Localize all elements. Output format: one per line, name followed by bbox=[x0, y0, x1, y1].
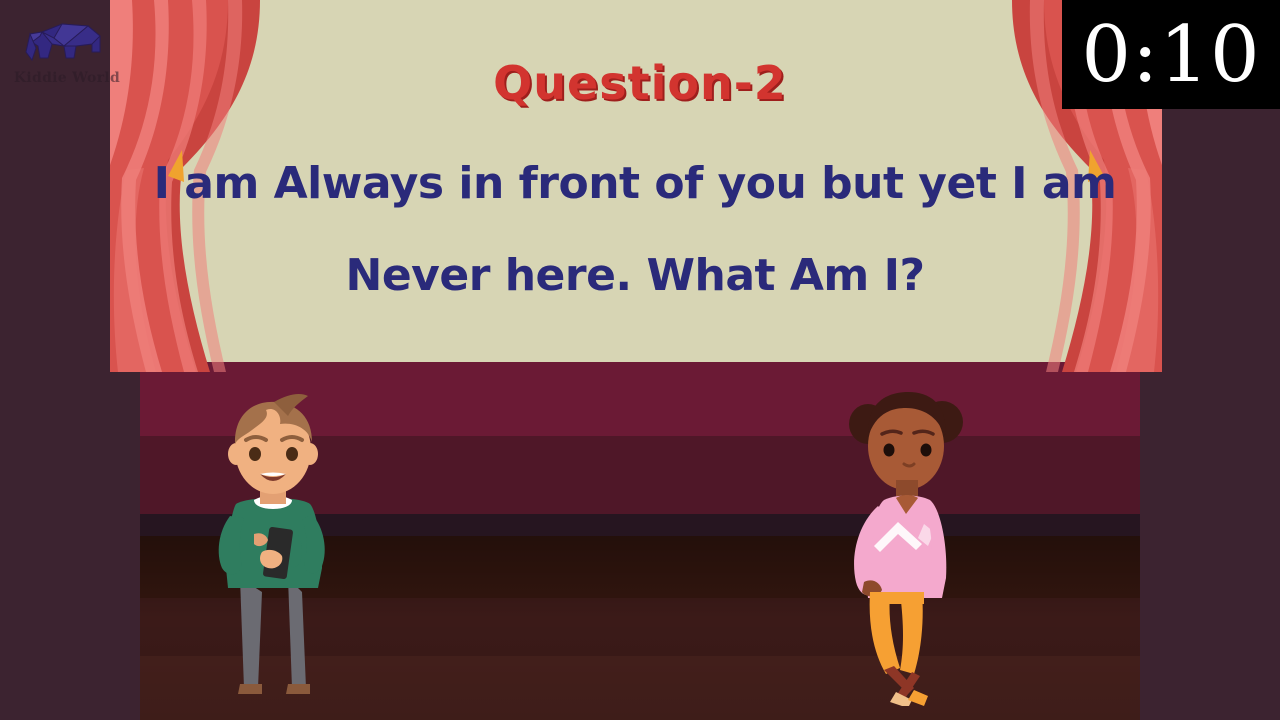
question-line-1: I am Always in front of you but yet I am bbox=[130, 138, 1140, 230]
timer-value: 0:10 bbox=[1081, 16, 1260, 94]
character-girl-standing bbox=[838, 386, 984, 706]
character-boy-with-phone bbox=[196, 392, 356, 708]
origami-elephant-icon bbox=[8, 18, 126, 70]
stage-floor-band-1 bbox=[0, 536, 1280, 598]
stage-back-wall-lower bbox=[0, 436, 1280, 514]
boy-illustration-icon bbox=[196, 392, 356, 708]
brand-watermark: Kiddie World bbox=[8, 18, 126, 90]
brand-name: Kiddie World bbox=[8, 70, 126, 86]
stage-floor-band-2 bbox=[0, 598, 1280, 656]
question-body: I am Always in front of you but yet I am… bbox=[130, 138, 1140, 322]
stage-floor-band-3 bbox=[0, 656, 1280, 720]
girl-illustration-icon bbox=[838, 386, 984, 706]
stage-front-lip bbox=[0, 514, 1280, 536]
riddle-slide: Question-2 I am Always in front of you b… bbox=[0, 0, 1280, 720]
countdown-timer: 0:10 bbox=[1062, 0, 1280, 109]
question-line-2: Never here. What Am I? bbox=[130, 230, 1140, 322]
